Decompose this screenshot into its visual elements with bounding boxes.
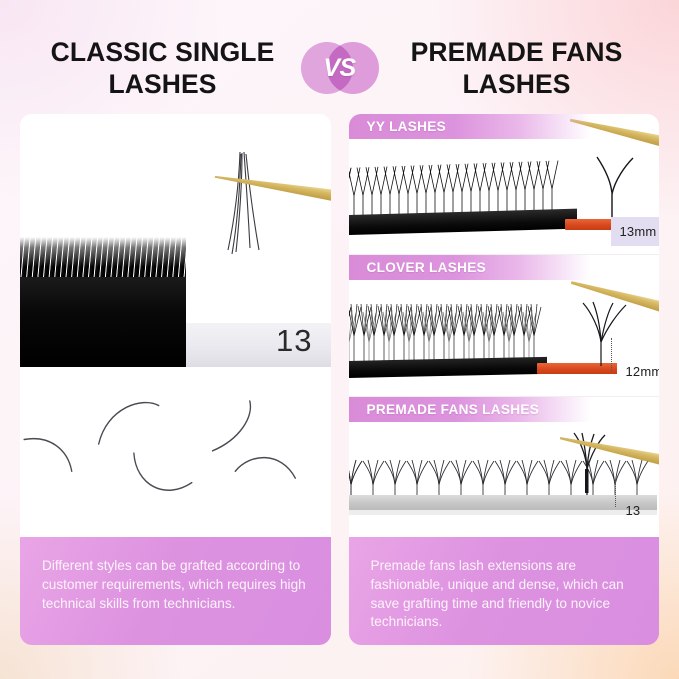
premade-measurement-label: 13 [617, 496, 650, 525]
premade-fans-label: PREMADE FANS LASHES [349, 397, 660, 422]
lash-strip-block-icon [20, 277, 186, 367]
classic-lash-photo: 13 [20, 114, 331, 367]
comparison-columns: 13 [20, 114, 659, 645]
comparison-infographic: CLASSIC SINGLE LASHES VS PREMADE FANS LA… [0, 0, 679, 679]
header: CLASSIC SINGLE LASHES VS PREMADE FANS LA… [0, 26, 679, 110]
premade-strip-base-icon [349, 495, 657, 511]
yy-measurement-label: 13mm [611, 217, 660, 246]
right-caption: Premade fans lash extensions are fashion… [349, 537, 660, 645]
left-measurement-label: 13 [276, 323, 312, 359]
left-panel-title: CLASSIC SINGLE LASHES [29, 36, 301, 101]
clover-fan-row-icon [349, 302, 552, 364]
clover-measurement-label: 12mm [617, 357, 660, 386]
right-panel-title: PREMADE FANS LASHES [379, 36, 651, 101]
curved-lash-icon [20, 367, 331, 537]
y-fan-icon [595, 156, 639, 222]
yy-measure-dotline [611, 192, 612, 220]
vs-badge: VS [301, 40, 379, 96]
clover-lashes-section: CLOVER LASHES [349, 255, 660, 396]
premade-strip-shadow [349, 510, 657, 515]
classic-single-lashes-card: 13 [20, 114, 331, 537]
clover-lashes-label: CLOVER LASHES [349, 255, 660, 280]
single-lash-icon [206, 150, 276, 262]
clover-strip-base-icon [349, 356, 547, 377]
vs-label: VS [323, 54, 355, 83]
yy-lashes-section: YY LASHES [349, 114, 660, 255]
yy-lashes-label: YY LASHES [349, 114, 660, 139]
premade-fans-lashes-card: YY LASHES [349, 114, 660, 537]
right-column: YY LASHES [349, 114, 660, 645]
left-caption: Different styles can be grafted accordin… [20, 537, 331, 645]
curved-lashes-area [20, 367, 331, 537]
clover-measure-dotline [611, 338, 612, 372]
premade-measure-dotline [615, 481, 616, 507]
left-column: 13 [20, 114, 331, 645]
premade-fans-section: PREMADE FANS LASHES [349, 397, 660, 537]
